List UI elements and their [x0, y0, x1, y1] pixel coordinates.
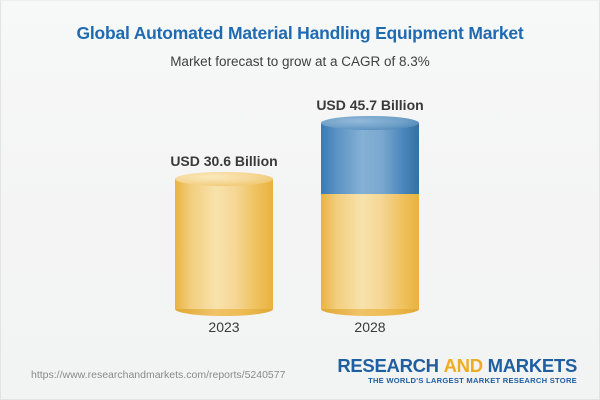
- category-label-2028: 2028: [354, 319, 385, 335]
- category-label-2023: 2023: [208, 319, 239, 335]
- brand-word-markets: MARKETS: [488, 355, 577, 376]
- brand-word-research: RESEARCH: [337, 355, 438, 376]
- cylinder-top-ellipse: [175, 172, 273, 186]
- infographic-card: Global Automated Material Handling Equip…: [0, 0, 600, 400]
- brand-logo[interactable]: RESEARCH AND MARKETS THE WORLD'S LARGEST…: [337, 356, 577, 385]
- source-url[interactable]: https://www.researchandmarkets.com/repor…: [31, 369, 285, 381]
- bar-cylinder-2023[interactable]: [175, 179, 273, 309]
- footer: https://www.researchandmarkets.com/repor…: [1, 347, 599, 399]
- cylinder-top-ellipse: [321, 116, 419, 130]
- bar-cylinder-2028[interactable]: [321, 123, 419, 309]
- bar-chart: USD 30.6 Billion 2023 USD 45.7 Billion: [1, 1, 600, 346]
- brand-name: RESEARCH AND MARKETS: [337, 356, 577, 375]
- brand-word-and: AND: [444, 355, 483, 376]
- bar-value-label-2028: USD 45.7 Billion: [316, 97, 423, 113]
- bar-value-label-2023: USD 30.6 Billion: [170, 153, 277, 169]
- bar-segment-2028-base: [321, 194, 419, 309]
- cylinder-body: [321, 194, 419, 309]
- brand-tagline: THE WORLD'S LARGEST MARKET RESEARCH STOR…: [337, 376, 577, 385]
- bar-segment-2023-base: [175, 179, 273, 309]
- cylinder-body: [321, 123, 419, 194]
- bar-segment-2028-growth: [321, 123, 419, 194]
- cylinder-body: [175, 179, 273, 309]
